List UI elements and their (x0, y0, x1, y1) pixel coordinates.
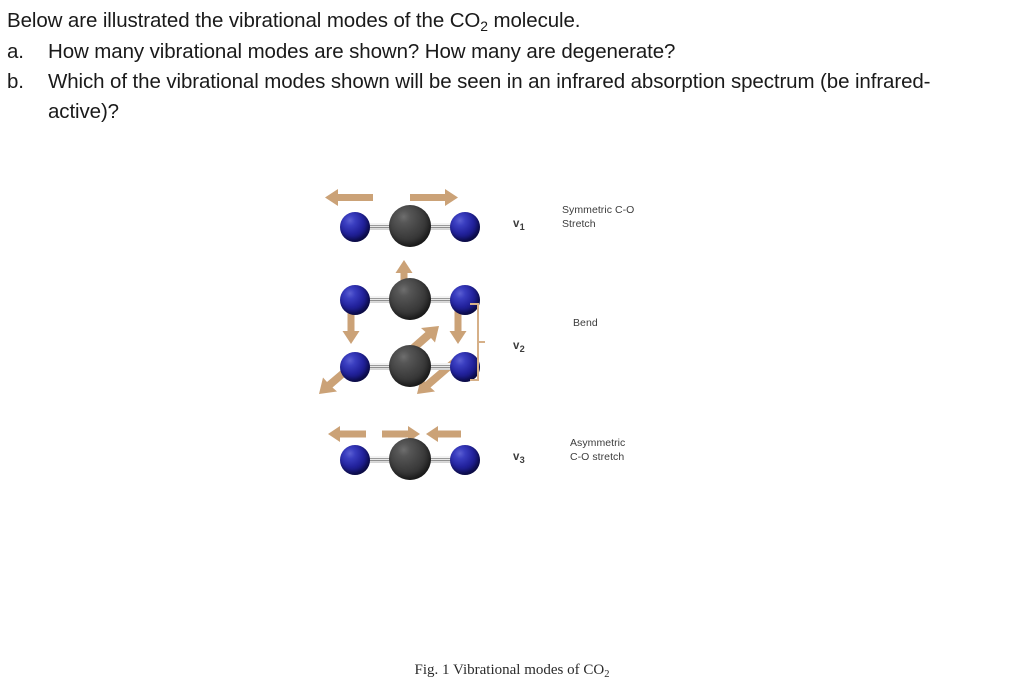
mode-row-symmetric-stretch: v1 Symmetric C-O Stretch (0, 168, 1024, 248)
figure-caption-subscript: 2 (604, 669, 609, 680)
figure-caption: Fig. 1 Vibrational modes of CO2 (0, 662, 1024, 679)
molecule-co2-asymmetric (340, 437, 490, 483)
question-item-a: a. How many vibrational modes are shown?… (7, 37, 1007, 67)
mode-symbol-v3-base: v (513, 451, 520, 463)
mode-symbol-v1-sub: 1 (520, 222, 525, 232)
oxygen-atom-left (340, 352, 370, 382)
molecule-co2-symmetric (340, 204, 490, 250)
mode-symbol-v1: v1 (513, 218, 525, 230)
carbon-atom (389, 438, 431, 480)
oxygen-atom-right (450, 445, 480, 475)
bracket-top-arm (470, 303, 479, 305)
mode-description-v2: Bend (573, 317, 598, 331)
intro-sentence: Below are illustrated the vibrational mo… (7, 6, 1007, 37)
oxygen-atom-left (340, 285, 370, 315)
mode-symbol-v2: v2 (513, 340, 525, 352)
carbon-atom (389, 278, 431, 320)
mode-description-v3-line1: Asymmetric (570, 437, 625, 451)
mode-description-v1: Symmetric C-O Stretch (562, 204, 634, 231)
mode-symbol-v2-sub: 2 (520, 344, 525, 354)
mode-symbol-v3: v3 (513, 451, 525, 463)
mode-symbol-v2-base: v (513, 340, 520, 352)
degeneracy-bracket (468, 303, 484, 381)
mode-symbol-v3-sub: 3 (520, 455, 525, 465)
question-text-a: How many vibrational modes are shown? Ho… (48, 37, 993, 67)
mode-description-v1-line1: Symmetric C-O (562, 204, 634, 218)
carbon-atom (389, 345, 431, 387)
bracket-center-tick (477, 341, 485, 343)
question-block: Below are illustrated the vibrational mo… (7, 6, 1007, 127)
mode-description-v1-line2: Stretch (562, 218, 634, 232)
question-marker-a: a. (7, 37, 48, 67)
intro-text-before: Below are illustrated the vibrational mo… (7, 9, 480, 32)
oxygen-atom-left (340, 445, 370, 475)
mode-description-v3-line2: C-O stretch (570, 451, 625, 465)
question-marker-b: b. (7, 67, 48, 97)
bracket-bottom-arm (470, 379, 479, 381)
oxygen-atom-right (450, 212, 480, 242)
figure-co2-vibrational-modes: v1 Symmetric C-O Stretch (0, 168, 1024, 528)
mode-description-v3: Asymmetric C-O stretch (570, 437, 625, 464)
figure-caption-text: Fig. 1 Vibrational modes of CO (415, 662, 605, 678)
mode-description-v2-line1: Bend (573, 317, 598, 331)
oxygen-atom-left (340, 212, 370, 242)
intro-text-after: molecule. (488, 9, 580, 32)
carbon-atom (389, 205, 431, 247)
mode-symbol-v1-base: v (513, 218, 520, 230)
question-text-b: Which of the vibrational modes shown wil… (48, 67, 993, 127)
question-item-b: b. Which of the vibrational modes shown … (7, 67, 1007, 127)
co2-subscript-intro: 2 (480, 18, 488, 34)
